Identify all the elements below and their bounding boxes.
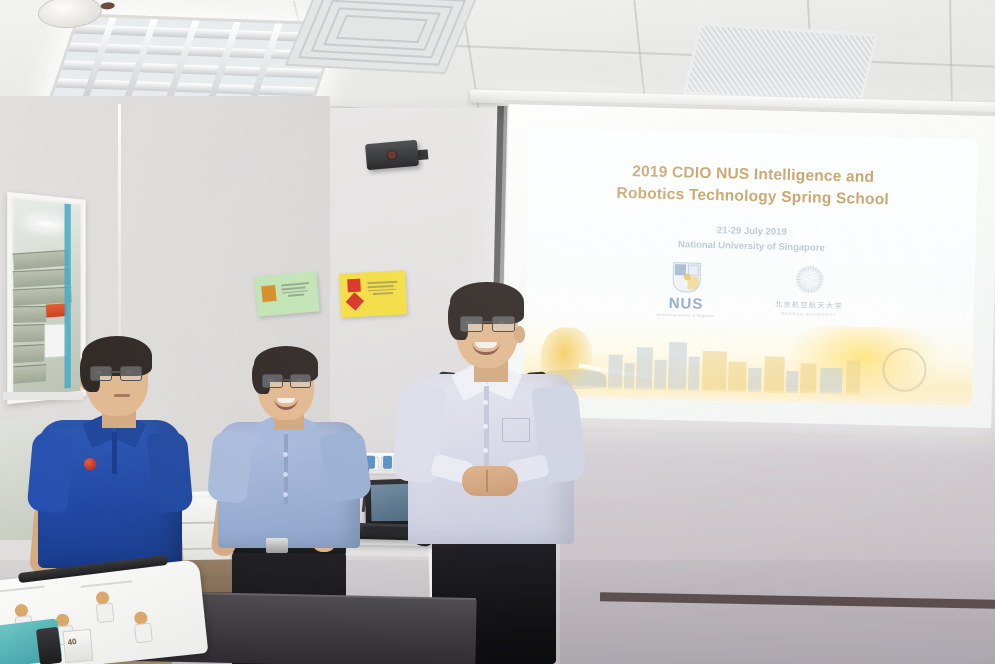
- hand-detail: [486, 470, 488, 492]
- glasses-icon: [262, 374, 283, 388]
- hazard-square-icon: [347, 279, 361, 293]
- glasses-icon: [90, 366, 112, 381]
- glasses-icon: [460, 316, 483, 332]
- glasses-icon: [492, 316, 515, 332]
- hazard-diamond-icon: [346, 292, 364, 310]
- shirt-button: [283, 452, 288, 457]
- shirt-button: [483, 400, 488, 405]
- shirt-button: [483, 448, 488, 453]
- person-left-placket: [112, 432, 117, 474]
- person-middle-belt-buckle: [266, 538, 288, 553]
- person-front-clasped-hands: [462, 466, 518, 496]
- glasses-bridge: [281, 379, 290, 381]
- glasses-icon: [120, 366, 142, 381]
- photo-scene: 2019 CDIO NUS Intelligence and Robotics …: [0, 0, 995, 664]
- person-left-sleeve: [147, 430, 194, 513]
- lapel-pin-icon: [84, 458, 96, 470]
- stairwell-sign: [46, 303, 67, 317]
- glasses-bridge: [481, 321, 492, 323]
- bag-tag: 40: [63, 629, 94, 663]
- person-left-sleeve: [27, 430, 74, 513]
- bag-tag-text: 40: [67, 637, 77, 647]
- person-middle-sleeve: [206, 430, 253, 504]
- glasses-bridge: [110, 371, 120, 373]
- ceiling-speaker-grille: [683, 22, 879, 105]
- wall-camera-icon: [365, 140, 419, 170]
- teal-container-lid: [36, 627, 62, 664]
- shirt-button: [283, 492, 288, 497]
- hazard-square-icon: [261, 285, 276, 302]
- shirt-button: [483, 424, 488, 429]
- wall-sign-green: [254, 271, 319, 316]
- shirt-button: [283, 472, 288, 477]
- person-left-mouth: [114, 394, 130, 397]
- person-middle-sleeve: [319, 429, 372, 502]
- glasses-icon: [290, 374, 311, 388]
- person-front-ear: [514, 326, 525, 343]
- camera-lens-icon: [388, 151, 397, 160]
- person-front-shirt-pocket: [502, 418, 530, 442]
- wall-sign-yellow: [339, 270, 407, 317]
